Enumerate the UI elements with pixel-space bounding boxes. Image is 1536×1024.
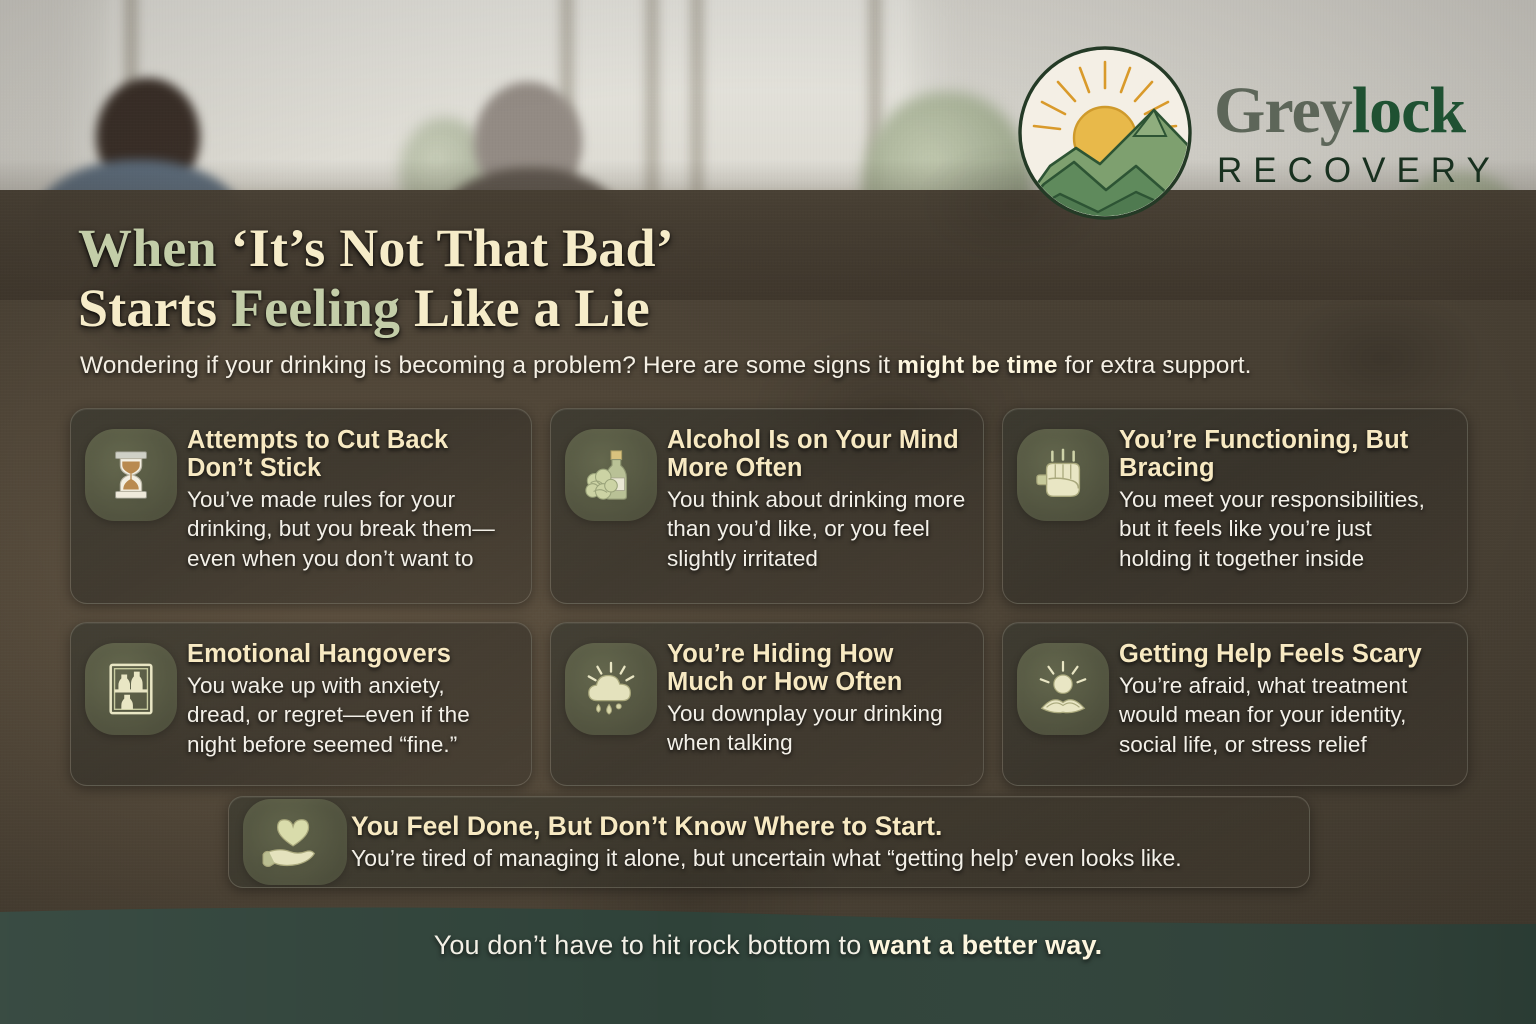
card-text: You’re Hiding How Much or How Often You … — [667, 637, 967, 758]
sign-card-attempts-to-cut-back[interactable]: Attempts to Cut Back Don’t Stick You’ve … — [70, 408, 532, 604]
page-title-line2: Starts Feeling Like a Lie — [78, 278, 674, 338]
footer-emphasis: want a better way. — [869, 930, 1102, 960]
signs-card-grid: Attempts to Cut Back Don’t Stick You’ve … — [70, 408, 1468, 786]
card-body: You think about drinking more than you’d… — [667, 485, 967, 573]
brand-name-grey: Grey — [1214, 74, 1352, 147]
footer-text-before: You don’t have to hit rock bottom to — [434, 930, 869, 960]
mountain-sunrise-circle-icon — [1016, 44, 1194, 222]
card-title: Attempts to Cut Back Don’t Stick — [187, 426, 515, 482]
sign-card-alcohol-on-your-mind[interactable]: Alcohol Is on Your Mind More Often You t… — [550, 408, 984, 604]
sign-card-functioning-but-bracing[interactable]: You’re Functioning, But Bracing You meet… — [1002, 408, 1468, 604]
card-body: You meet your responsibilities, but it f… — [1119, 485, 1451, 573]
page-title-line1: When ‘It’s Not That Bad’ — [78, 218, 674, 278]
closing-card-body: You’re tired of managing it alone, but u… — [351, 844, 1295, 873]
page-title: When ‘It’s Not That Bad’ Starts Feeling … — [78, 218, 674, 339]
card-body: You’re afraid, what treatment would mean… — [1119, 671, 1451, 759]
brand-logo[interactable]: Greylock RECOVERY — [1016, 44, 1501, 222]
card-row-2: Emotional Hangovers You wake up with anx… — [70, 622, 1468, 786]
sign-card-emotional-hangovers[interactable]: Emotional Hangovers You wake up with anx… — [70, 622, 532, 786]
brand-wordmark: Greylock RECOVERY — [1214, 78, 1501, 188]
card-title: Alcohol Is on Your Mind More Often — [667, 426, 967, 482]
rain-cloud-icon — [565, 643, 657, 735]
subtitle-emphasis: might be time — [897, 352, 1058, 379]
card-text: You’re Functioning, But Bracing You meet… — [1119, 423, 1451, 573]
footer-band: You don’t have to hit rock bottom to wan… — [0, 894, 1536, 1024]
closing-card-text: You Feel Done, But Don’t Know Where to S… — [351, 811, 1295, 873]
closing-card[interactable]: You Feel Done, But Don’t Know Where to S… — [228, 796, 1310, 888]
card-text: Attempts to Cut Back Don’t Stick You’ve … — [187, 423, 515, 573]
card-body: You downplay your drinking when talking — [667, 699, 967, 758]
sign-card-hiding-how-much[interactable]: You’re Hiding How Much or How Often You … — [550, 622, 984, 786]
card-title: You’re Hiding How Much or How Often — [667, 640, 967, 696]
subtitle-text-before: Wondering if your drinking is becoming a… — [80, 352, 897, 379]
page-subtitle: Wondering if your drinking is becoming a… — [80, 352, 1480, 380]
bottle-and-brain-icon — [565, 429, 657, 521]
card-title: Getting Help Feels Scary — [1119, 640, 1451, 668]
person-radiating-light-icon — [1017, 643, 1109, 735]
brand-name-lock: lock — [1352, 74, 1465, 147]
brand-tagline: RECOVERY — [1214, 153, 1501, 188]
clenched-fist-icon — [1017, 429, 1109, 521]
brand-name: Greylock — [1214, 78, 1501, 144]
card-body: You’ve made rules for your drinking, but… — [187, 485, 515, 573]
card-row-1: Attempts to Cut Back Don’t Stick You’ve … — [70, 408, 1468, 604]
closing-card-title: You Feel Done, But Don’t Know Where to S… — [351, 811, 1295, 842]
sign-card-getting-help-feels-scary[interactable]: Getting Help Feels Scary You’re afraid, … — [1002, 622, 1468, 786]
subtitle-text-after: for extra support. — [1058, 352, 1252, 379]
hourglass-icon — [85, 429, 177, 521]
footer-message: You don’t have to hit rock bottom to wan… — [0, 930, 1536, 961]
card-text: Getting Help Feels Scary You’re afraid, … — [1119, 637, 1451, 759]
card-title: Emotional Hangovers — [187, 640, 515, 668]
card-body: You wake up with anxiety, dread, or regr… — [187, 671, 515, 759]
card-title: You’re Functioning, But Bracing — [1119, 426, 1451, 482]
liquor-cabinet-icon — [85, 643, 177, 735]
infographic-canvas: Greylock RECOVERY When ‘It’s Not That Ba… — [0, 0, 1536, 1024]
heart-in-hand-icon — [243, 799, 347, 885]
card-text: Emotional Hangovers You wake up with anx… — [187, 637, 515, 759]
card-text: Alcohol Is on Your Mind More Often You t… — [667, 423, 967, 573]
